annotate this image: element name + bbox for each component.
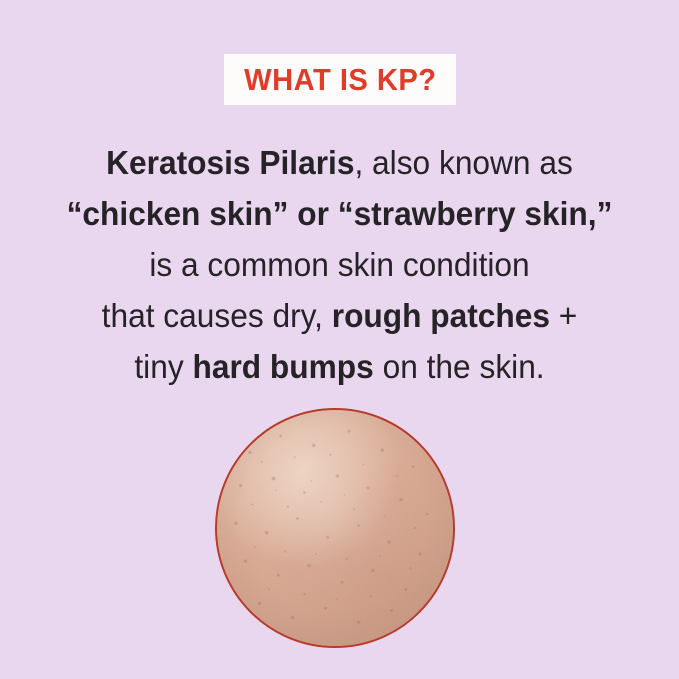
body-line-4: that causes dry, rough patches + (14, 290, 666, 341)
body-line-5-bold: hard bumps (192, 348, 373, 385)
kp-info-poster: WHAT IS KP? Keratosis Pilaris, also know… (0, 0, 679, 679)
body-line-5-regular-b: on the skin. (374, 348, 545, 385)
body-line-1: Keratosis Pilaris, also known as (14, 137, 666, 188)
body-line-2: “chicken skin” or “strawberry skin,” (14, 188, 666, 239)
body-line-3: is a common skin condition (14, 239, 666, 290)
skin-photo-circle (215, 408, 455, 648)
body-line-2-bold: “chicken skin” or “strawberry skin,” (67, 195, 613, 232)
skin-vignette-overlay (217, 410, 453, 646)
title-banner: WHAT IS KP? (224, 54, 456, 105)
body-line-4-regular-a: that causes dry, (102, 297, 332, 334)
body-paragraph: Keratosis Pilaris, also known as “chicke… (0, 137, 679, 392)
page-title: WHAT IS KP? (244, 64, 436, 95)
body-line-1-regular: , also known as (354, 144, 572, 181)
body-line-3-regular: is a common skin condition (149, 246, 529, 283)
body-line-4-regular-b: + (550, 297, 577, 334)
body-line-1-bold: Keratosis Pilaris (106, 144, 354, 181)
body-line-5: tiny hard bumps on the skin. (14, 341, 666, 392)
body-line-4-bold: rough patches (332, 297, 550, 334)
body-line-5-regular-a: tiny (134, 348, 192, 385)
